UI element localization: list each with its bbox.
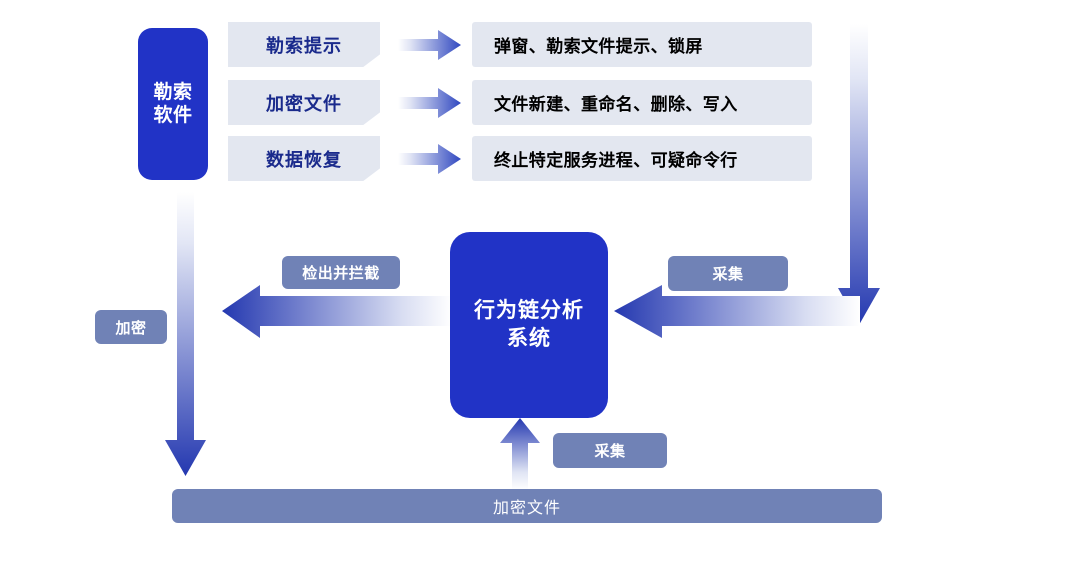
center-block-analysis-system[interactable]: 行为链分析 系统 bbox=[450, 232, 608, 418]
behavior-chip-1[interactable]: 加密文件 bbox=[228, 80, 380, 125]
behavior-detail-0-label: 弹窗、勒索文件提示、锁屏 bbox=[494, 32, 703, 57]
source-block-label: 勒索 软件 bbox=[153, 81, 192, 127]
right-arrow-icon-2 bbox=[398, 143, 462, 175]
badge-collect-bottom[interactable]: 采集 bbox=[553, 433, 667, 468]
behavior-chip-0-label: 勒索提示 bbox=[266, 32, 342, 58]
diagram-canvas: 勒索 软件 勒索提示 弹窗、勒索文件提示、锁屏 加密文件 文件新建、重命名、删除… bbox=[0, 0, 1069, 582]
badge-collect-bottom-label: 采集 bbox=[594, 440, 625, 461]
behavior-chip-2[interactable]: 数据恢复 bbox=[228, 136, 380, 181]
arrow-right-to-center bbox=[614, 285, 860, 338]
behavior-chip-1-label: 加密文件 bbox=[266, 90, 342, 116]
badge-encrypt[interactable]: 加密 bbox=[95, 310, 167, 344]
behavior-chip-0[interactable]: 勒索提示 bbox=[228, 22, 380, 67]
bottom-bar-encrypted-files[interactable]: 加密文件 bbox=[172, 489, 882, 523]
right-arrow-icon-1 bbox=[398, 87, 462, 119]
badge-detect-and-block[interactable]: 检出并拦截 bbox=[282, 256, 400, 289]
arrow-right-vertical-down bbox=[838, 24, 880, 325]
right-arrow-icon-0 bbox=[398, 29, 462, 61]
badge-collect-right-label: 采集 bbox=[712, 263, 743, 284]
behavior-detail-1-label: 文件新建、重命名、删除、写入 bbox=[494, 90, 738, 115]
bottom-bar-label: 加密文件 bbox=[493, 494, 561, 518]
badge-detect-and-block-label: 检出并拦截 bbox=[302, 262, 380, 283]
center-block-label: 行为链分析 系统 bbox=[474, 297, 584, 354]
behavior-detail-1[interactable]: 文件新建、重命名、删除、写入 bbox=[472, 80, 812, 125]
behavior-chip-2-label: 数据恢复 bbox=[266, 146, 342, 172]
behavior-detail-2[interactable]: 终止特定服务进程、可疑命令行 bbox=[472, 136, 812, 181]
arrow-bottom-to-center-up bbox=[500, 418, 540, 490]
behavior-detail-0[interactable]: 弹窗、勒索文件提示、锁屏 bbox=[472, 22, 812, 67]
arrow-center-to-left bbox=[222, 285, 452, 338]
badge-encrypt-label: 加密 bbox=[115, 317, 146, 338]
behavior-detail-2-label: 终止特定服务进程、可疑命令行 bbox=[494, 146, 738, 171]
source-block-ransomware[interactable]: 勒索 软件 bbox=[138, 28, 208, 180]
arrow-left-vertical-down bbox=[165, 192, 206, 476]
badge-collect-right[interactable]: 采集 bbox=[668, 256, 788, 291]
